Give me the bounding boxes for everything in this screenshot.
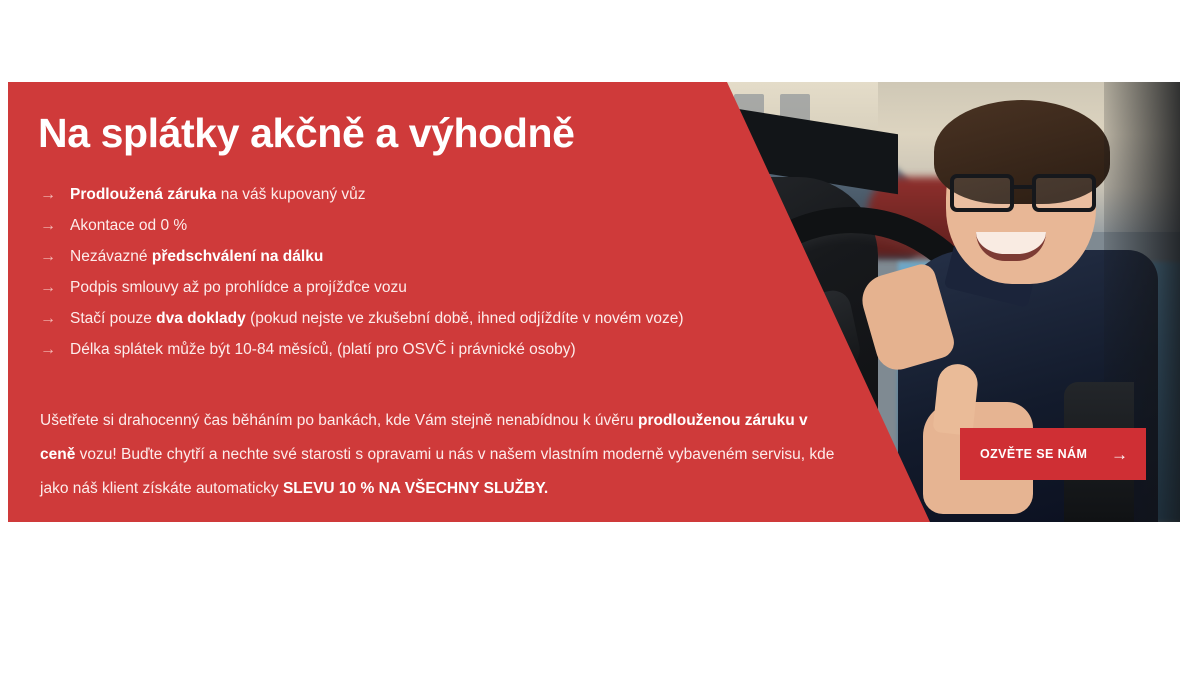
list-item-rest: Délka splátek může být 10-84 měsíců, (pl… (70, 341, 576, 358)
list-item-label: Nezávazné předschválení na dálku (70, 248, 323, 266)
banner-paragraph: Ušetřete si drahocenný čas běháním po ba… (40, 404, 840, 506)
list-item: → Akontace od 0 % (40, 217, 840, 248)
list-item-rest: Stačí pouze (70, 310, 156, 327)
arrow-right-icon: → (40, 311, 70, 327)
list-item: → Délka splátek může být 10-84 měsíců, (… (40, 341, 840, 372)
list-item-label: Akontace od 0 % (70, 217, 187, 235)
list-item-bold-lead: Prodloužená záruka (70, 186, 216, 203)
contact-us-button[interactable]: OZVĚTE SE NÁM → (960, 428, 1146, 480)
list-item-rest: Nezávazné (70, 248, 152, 265)
banner-title: Na splátky akčně a výhodně (38, 110, 575, 157)
list-item-bold-mid: dva doklady (156, 310, 246, 327)
contact-us-button-label: OZVĚTE SE NÁM (980, 447, 1087, 461)
list-item: → Nezávazné předschválení na dálku (40, 248, 840, 279)
list-item-label: Délka splátek může být 10-84 měsíců, (pl… (70, 341, 576, 359)
arrow-right-icon: → (40, 187, 70, 203)
list-item: → Stačí pouze dva doklady (pokud nejste … (40, 310, 840, 341)
list-item-label: Podpis smlouvy až po prohlídce a projížď… (70, 279, 407, 297)
arrow-right-icon: → (40, 249, 70, 265)
list-item-bold-mid: předschválení na dálku (152, 248, 323, 265)
banner-content: Na splátky akčně a výhodně → Prodloužená… (8, 82, 1180, 522)
arrow-right-icon: → (40, 218, 70, 234)
arrow-right-icon: → (40, 280, 70, 296)
list-item-label: Prodloužená záruka na váš kupovaný vůz (70, 186, 366, 204)
list-item-tail: (pokud nejste ve zkušební době, ihned od… (246, 310, 684, 327)
list-item-rest: Podpis smlouvy až po prohlídce a projížď… (70, 279, 407, 296)
arrow-right-icon: → (40, 342, 70, 358)
promo-banner: Na splátky akčně a výhodně → Prodloužená… (8, 82, 1180, 522)
list-item: → Podpis smlouvy až po prohlídce a projí… (40, 279, 840, 310)
list-item-label: Stačí pouze dva doklady (pokud nejste ve… (70, 310, 683, 328)
list-item-rest: Akontace od 0 % (70, 217, 187, 234)
paragraph-part-1: Ušetřete si drahocenný čas běháním po ba… (40, 412, 638, 429)
list-item-rest: na váš kupovaný vůz (216, 186, 365, 203)
arrow-right-icon: → (1111, 446, 1128, 463)
paragraph-bold-2: SLEVU 10 % NA VŠECHNY SLUŽBY. (283, 480, 548, 497)
benefits-list: → Prodloužená záruka na váš kupovaný vůz… (40, 186, 840, 372)
page-root: Na splátky akčně a výhodně → Prodloužená… (0, 0, 1200, 678)
list-item: → Prodloužená záruka na váš kupovaný vůz (40, 186, 840, 217)
